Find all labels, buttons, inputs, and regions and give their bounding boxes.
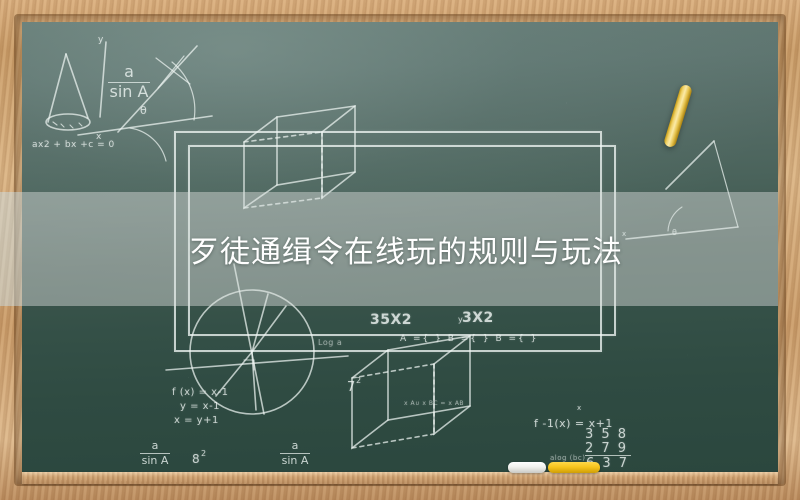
angle-arc-2 — [172, 62, 195, 120]
page-title: 歹徒通缉令在线玩的规则与玩法 — [0, 192, 800, 306]
fraction-denominator: sin A — [280, 455, 310, 467]
angle-arc — [130, 128, 166, 161]
yellow-chalk-stick — [548, 462, 600, 473]
axis-y-line — [100, 42, 106, 117]
chalk-ledge — [22, 472, 778, 484]
cone-right-edge — [66, 54, 88, 118]
fraction-a-over-sin-a-topleft: a sin A — [108, 64, 150, 101]
fraction-a-over-sin-a-bottom1: a sin A — [140, 440, 170, 466]
angle-cross-2 — [158, 56, 184, 88]
angle-cross-1 — [156, 58, 190, 84]
fraction-denominator: sin A — [108, 84, 150, 101]
fraction-numerator: a — [140, 440, 170, 452]
fraction-numerator: a — [108, 64, 150, 81]
cone-left-edge — [48, 54, 66, 122]
white-chalk-stick — [508, 462, 546, 473]
fraction-denominator: sin A — [140, 455, 170, 467]
cone-base-hatch — [53, 122, 82, 128]
cube-right — [352, 336, 470, 448]
fraction-a-over-sin-a-bottom2: a sin A — [280, 440, 310, 466]
chalkboard-scene: a sin A y x θ ax2 + bx +c = 0 f (x) = x-… — [0, 0, 800, 500]
fraction-numerator: a — [280, 440, 310, 452]
